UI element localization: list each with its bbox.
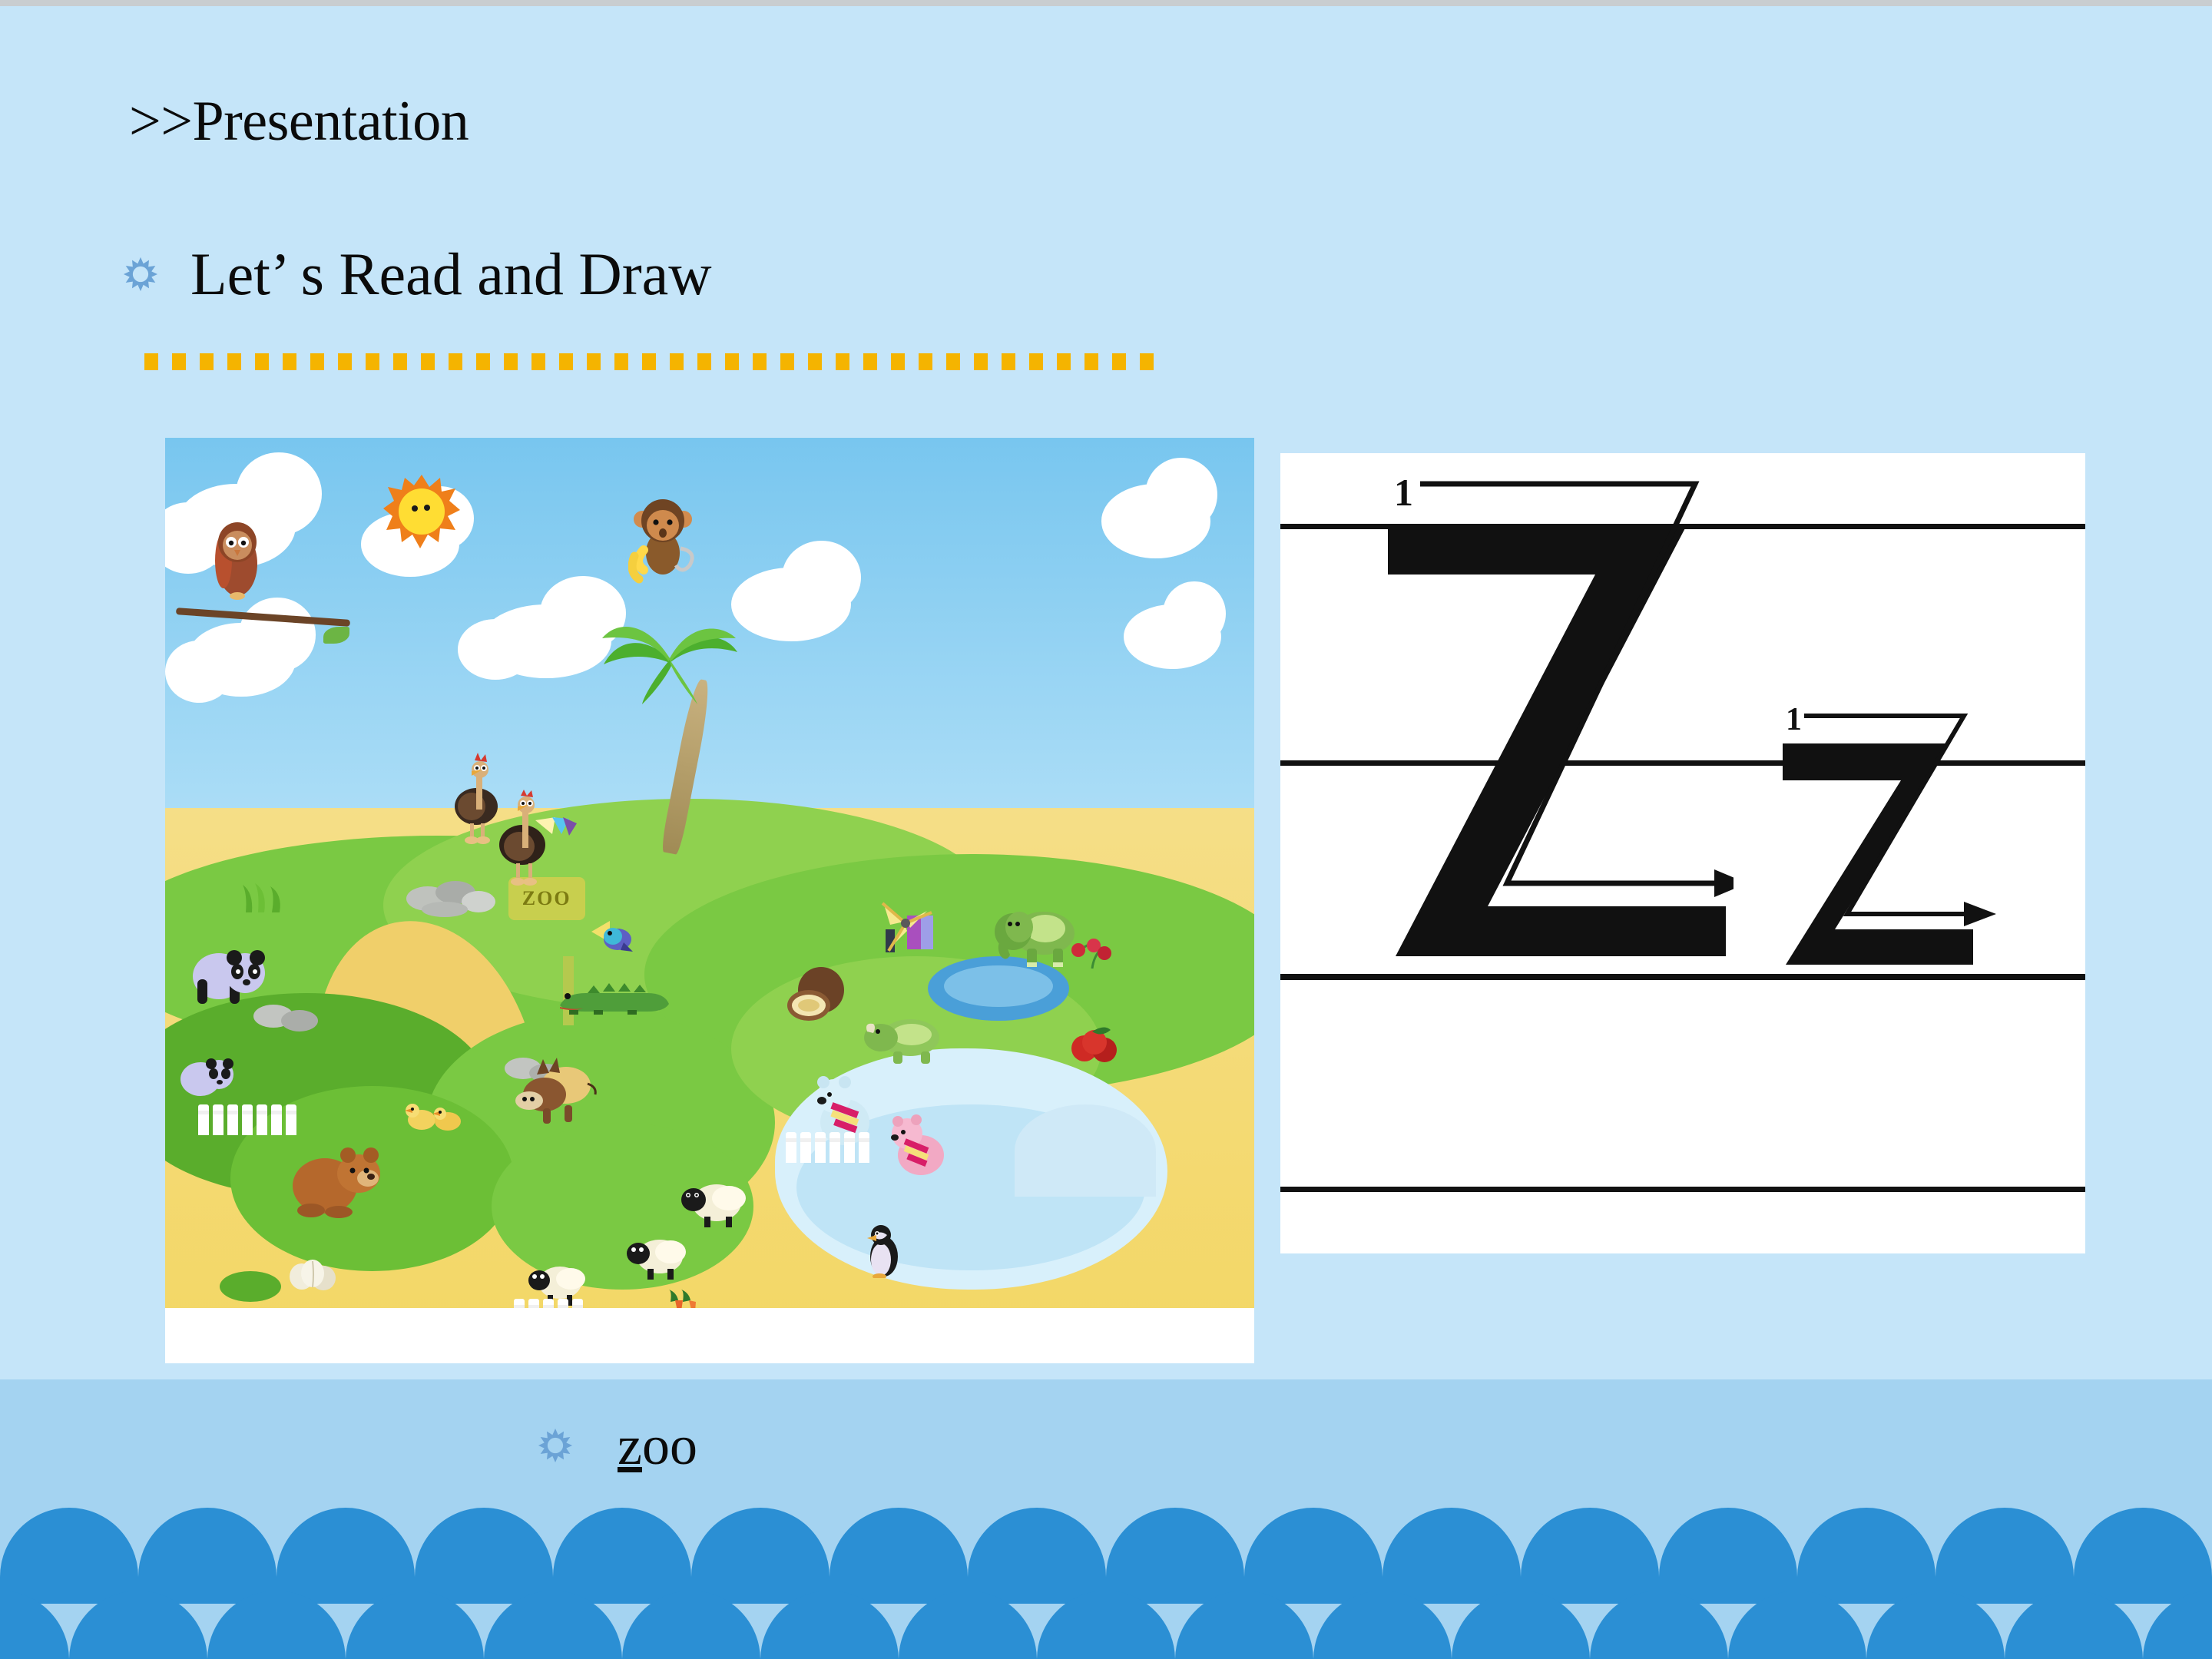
arch-shape <box>1936 1508 2074 1604</box>
owl-icon <box>209 516 266 601</box>
stroke-number-lower: 1 <box>1786 707 1802 737</box>
cloud-icon <box>1101 484 1210 558</box>
arch-shape <box>0 1591 69 1659</box>
caption-rest-letters: oo <box>642 1415 697 1476</box>
arch-shape <box>276 1508 415 1604</box>
white-fence <box>198 1104 296 1135</box>
cloud-icon <box>731 568 851 641</box>
arch-shape <box>207 1591 346 1659</box>
water-pond-inner <box>944 965 1053 1007</box>
arch-decoration <box>0 1508 2212 1659</box>
arch-shape <box>1037 1591 1175 1659</box>
arch-shape <box>1106 1508 1244 1604</box>
sheep-icon <box>677 1178 746 1229</box>
panda-icon <box>187 938 271 1007</box>
ostrich-icon <box>492 790 548 886</box>
stroke-number-upper: 1 <box>1394 476 1413 514</box>
arch-shape <box>1382 1508 1521 1604</box>
arch-shape <box>760 1591 899 1659</box>
arch-shape <box>829 1508 968 1604</box>
arch-row <box>0 1591 2212 1659</box>
ruled-line <box>1280 1187 2085 1192</box>
arch-shape <box>1175 1591 1313 1659</box>
uppercase-z-stroke-diagram: 1 <box>1365 476 1734 987</box>
crocodile-icon <box>557 975 672 1015</box>
garlic-icon <box>285 1252 345 1290</box>
cherries-icon <box>1069 938 1115 970</box>
arch-shape <box>1521 1508 1659 1604</box>
caption-label-zoo: zoo <box>618 1418 697 1473</box>
donkey-icon <box>514 1058 598 1127</box>
arch-shape <box>346 1591 484 1659</box>
arch-shape <box>553 1508 691 1604</box>
image-bottom-strip <box>165 1308 1254 1363</box>
caption-underlined-letter: z <box>618 1415 642 1476</box>
arch-shape <box>2005 1591 2143 1659</box>
arch-shape <box>138 1508 276 1604</box>
ducks-icon <box>405 1095 471 1134</box>
palm-leaves-icon <box>601 604 739 704</box>
arch-shape <box>1797 1508 1936 1604</box>
brown-bear-icon <box>285 1141 385 1218</box>
dotted-divider <box>144 353 1160 370</box>
sheep-icon <box>623 1233 687 1281</box>
arch-shape <box>2074 1508 2212 1604</box>
sun-bullet-icon <box>123 257 158 292</box>
arch-shape <box>1590 1591 1728 1659</box>
arch-shape <box>968 1508 1106 1604</box>
white-fence <box>786 1132 869 1163</box>
sun-bullet-icon <box>538 1428 573 1463</box>
arch-shape <box>622 1591 760 1659</box>
rocks-icon <box>405 873 497 917</box>
arch-shape <box>691 1508 829 1604</box>
penguin-icon <box>863 1224 902 1278</box>
letter-z-worksheet: 1 1 <box>1280 453 2085 1253</box>
arch-shape <box>899 1591 1037 1659</box>
rhinoceros-icon <box>863 1012 947 1065</box>
arch-shape <box>1313 1591 1452 1659</box>
page-title: >>Presentation <box>129 92 469 152</box>
sun-icon <box>383 475 460 551</box>
coconut-icon <box>786 965 847 1022</box>
lowercase-z-stroke-diagram: 1 <box>1772 707 2025 987</box>
arch-row <box>0 1508 2212 1604</box>
cloud-icon <box>1124 604 1222 669</box>
cloud-icon <box>187 623 296 697</box>
bush-icon <box>220 1271 281 1302</box>
presentation-slide: >>Presentation Let’ s Read and Draw <box>0 0 2212 1659</box>
grass-icon <box>241 882 287 912</box>
blue-bird-icon <box>590 919 633 958</box>
windmill-icon <box>873 891 939 957</box>
bullet-label-read-and-draw: Let’ s Read and Draw <box>190 244 712 304</box>
arch-shape <box>0 1508 138 1604</box>
baby-panda-icon <box>176 1048 236 1099</box>
apples-icon <box>1069 1021 1123 1064</box>
arch-shape <box>1659 1508 1797 1604</box>
bullet-row-read-and-draw: Let’ s Read and Draw <box>123 244 712 304</box>
arch-shape <box>1244 1508 1382 1604</box>
arch-shape <box>415 1508 553 1604</box>
arch-shape <box>2143 1591 2212 1659</box>
monkey-icon <box>628 493 697 585</box>
cloud-icon <box>481 604 611 678</box>
arch-shape <box>1866 1591 2005 1659</box>
arch-shape <box>484 1591 622 1659</box>
arch-shape <box>1452 1591 1590 1659</box>
zoo-illustration: ZOO <box>165 438 1254 1363</box>
arch-shape <box>69 1591 207 1659</box>
arch-shape <box>1728 1591 1866 1659</box>
pink-polar-bear-icon <box>884 1114 953 1180</box>
caption-row-zoo: zoo <box>538 1418 697 1473</box>
igloo-icon <box>1015 1104 1156 1197</box>
